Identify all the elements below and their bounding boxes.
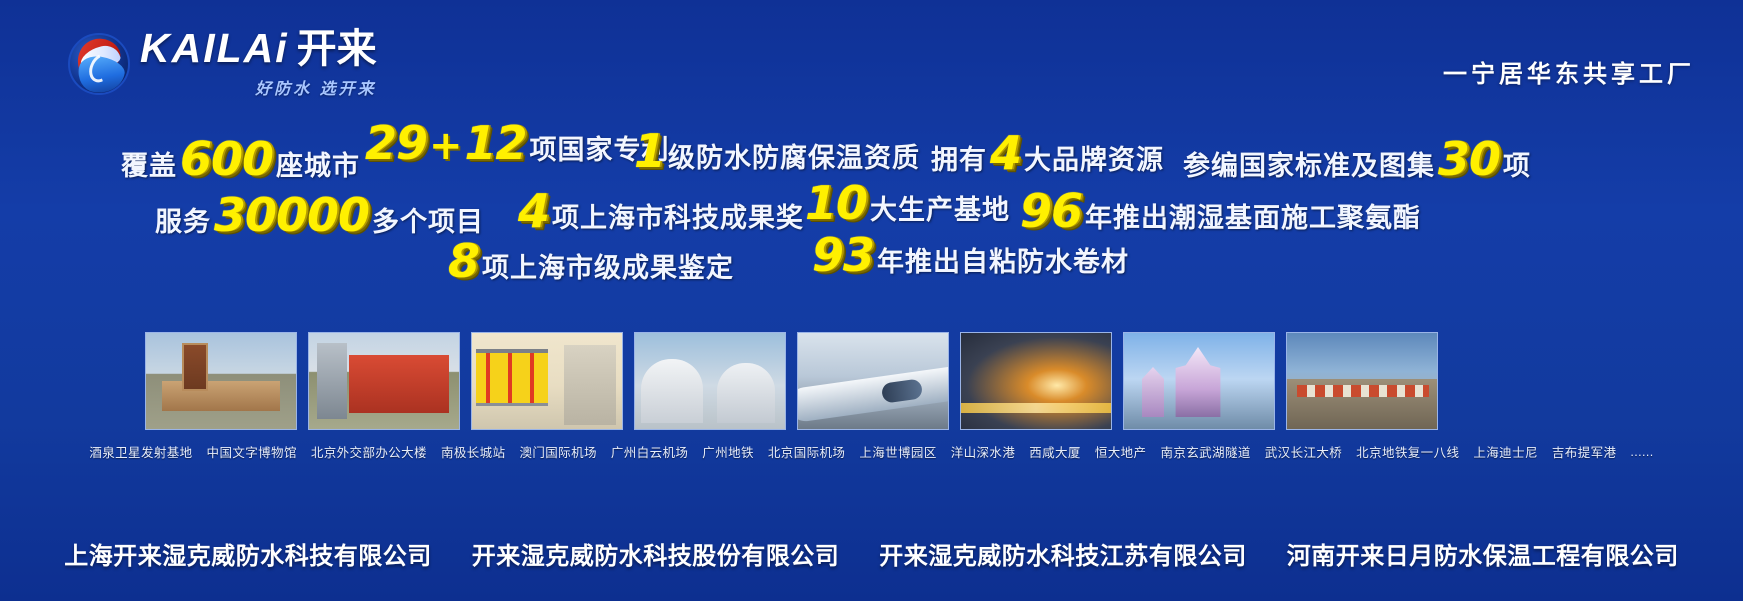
stat-cities-number: 600 xyxy=(180,136,273,182)
stat-patents-number2: 12 xyxy=(465,120,527,166)
stat-cities-suffix: 座城市 xyxy=(273,153,363,180)
caption-item: 广州白云机场 xyxy=(611,442,688,461)
stat-qualification: 1 级防水防腐保温资质 xyxy=(634,128,923,174)
stat-qualification-number: 1 xyxy=(634,128,665,174)
caption-item: 武汉长江大桥 xyxy=(1265,442,1342,461)
company-name: 开来湿克威防水科技江苏有限公司 xyxy=(879,536,1247,571)
stat-cities: 覆盖 600 座城市 xyxy=(118,136,363,182)
stat-sh-sci-award-number: 4 xyxy=(518,188,549,234)
stat-projects-number: 30000 xyxy=(214,192,369,238)
stat-sbs-1993-number: 93 xyxy=(812,232,874,278)
stat-brands-suffix: 大品牌资源 xyxy=(1021,147,1167,174)
project-thumb-airport-terminal-roof[interactable] xyxy=(634,332,786,430)
company-name: 河南开来日月防水保温工程有限公司 xyxy=(1287,536,1679,571)
stat-standards: 参编国家标准及图集 30 项 xyxy=(1180,136,1534,182)
caption-item: 澳门国际机场 xyxy=(519,442,596,461)
stat-brands-number: 4 xyxy=(990,130,1021,176)
stat-projects: 服务 30000 多个项目 xyxy=(152,192,487,238)
stat-standards-prefix: 参编国家标准及图集 xyxy=(1180,153,1438,180)
stat-projects-prefix: 服务 xyxy=(152,209,214,236)
stat-patents-plus: + xyxy=(427,126,465,166)
caption-item: 酒泉卫星发射基地 xyxy=(89,442,192,461)
caption-item: 南极长城站 xyxy=(441,442,506,461)
stat-pu-1996: 96 年推出潮湿基面施工聚氨酯 xyxy=(1020,188,1424,234)
stat-patents-number: 29 xyxy=(365,120,427,166)
stat-pu-1996-suffix: 年推出潮湿基面施工聚氨酯 xyxy=(1082,205,1424,232)
stat-brands: 拥有 4 大品牌资源 xyxy=(928,130,1167,176)
caption-item: 广州地铁 xyxy=(702,442,754,461)
brand-cjk-name: 开来 xyxy=(297,29,377,69)
caption-item: 吉布提军港 xyxy=(1552,442,1617,461)
project-thumb-shanghai-disneyland-castle[interactable] xyxy=(1123,332,1275,430)
stat-pu-1996-number: 96 xyxy=(1020,188,1082,234)
caption-item: 南京玄武湖隧道 xyxy=(1160,442,1250,461)
caption-item: ...... xyxy=(1630,445,1653,459)
company-name: 开来湿克威防水科技股份有限公司 xyxy=(472,536,840,571)
stat-cities-prefix: 覆盖 xyxy=(118,153,180,180)
company-footer: 上海开来湿克威防水科技有限公司 开来湿克威防水科技股份有限公司 开来湿克威防水科… xyxy=(0,536,1743,571)
project-thumb-beijing-subway-station[interactable] xyxy=(471,332,623,430)
stat-bases: 10 大生产基地 xyxy=(805,180,1013,226)
stat-patents: 29 + 12 项国家专利 xyxy=(365,120,673,166)
stat-standards-suffix: 项 xyxy=(1500,153,1534,180)
brand-logo[interactable]: KAILAi 开来 好防水 选开来 xyxy=(68,28,377,99)
project-thumb-jiuquan-satellite-launch-base[interactable] xyxy=(145,332,297,430)
caption-item: 恒大地产 xyxy=(1095,442,1147,461)
caption-item: 上海迪士尼 xyxy=(1473,442,1538,461)
stat-standards-number: 30 xyxy=(1438,136,1500,182)
stat-sbs-1993-suffix: 年推出自粘防水卷材 xyxy=(874,249,1132,276)
stat-bases-suffix: 大生产基地 xyxy=(867,197,1013,224)
thumbnail-strip xyxy=(145,332,1438,430)
stat-sh-sci-award: 4 项上海市科技成果奖 xyxy=(518,188,807,234)
project-thumb-djibouti-port[interactable] xyxy=(1286,332,1438,430)
caption-item: 中国文字博物馆 xyxy=(207,442,297,461)
factory-tag: 一宁居华东共享工厂 xyxy=(1443,54,1695,89)
stat-qualification-suffix: 级防水防腐保温资质 xyxy=(665,145,923,172)
stat-sh-sci-award-suffix: 项上海市科技成果奖 xyxy=(549,205,807,232)
caption-item: 西咸大厦 xyxy=(1029,442,1081,461)
stat-bases-number: 10 xyxy=(805,180,867,226)
stats-section: 覆盖 600 座城市 29 + 12 项国家专利 1 级防水防腐保温资质 拥有 … xyxy=(0,110,1743,310)
stat-sh-appraisal: 8 项上海市级成果鉴定 xyxy=(448,238,737,284)
stat-brands-prefix: 拥有 xyxy=(928,147,990,174)
caption-item: 北京地铁复一八线 xyxy=(1356,442,1459,461)
caption-item: 上海世博园区 xyxy=(859,442,936,461)
caption-item: 北京外交部办公大楼 xyxy=(311,442,427,461)
stat-sh-appraisal-number: 8 xyxy=(448,238,479,284)
page-header: KAILAi 开来 好防水 选开来 一宁居华东共享工厂 xyxy=(0,0,1743,110)
stat-sh-appraisal-suffix: 项上海市级成果鉴定 xyxy=(479,255,737,282)
stat-projects-suffix: 多个项目 xyxy=(369,209,487,236)
kailai-swoosh-logo-icon xyxy=(68,33,130,95)
project-thumb-highway-tunnel[interactable] xyxy=(960,332,1112,430)
company-name: 上海开来湿克威防水科技有限公司 xyxy=(64,536,432,571)
project-thumb-high-speed-train[interactable] xyxy=(797,332,949,430)
caption-item: 洋山深水港 xyxy=(951,442,1016,461)
project-caption-list: 酒泉卫星发射基地 中国文字博物馆 北京外交部办公大楼 南极长城站 澳门国际机场 … xyxy=(0,442,1743,461)
brand-slogan: 好防水 选开来 xyxy=(255,75,376,99)
caption-item: 北京国际机场 xyxy=(768,442,845,461)
stat-sbs-1993: 93 年推出自粘防水卷材 xyxy=(812,232,1132,278)
brand-latin-name: KAILAi xyxy=(140,28,289,69)
project-thumb-chinese-character-museum[interactable] xyxy=(308,332,460,430)
